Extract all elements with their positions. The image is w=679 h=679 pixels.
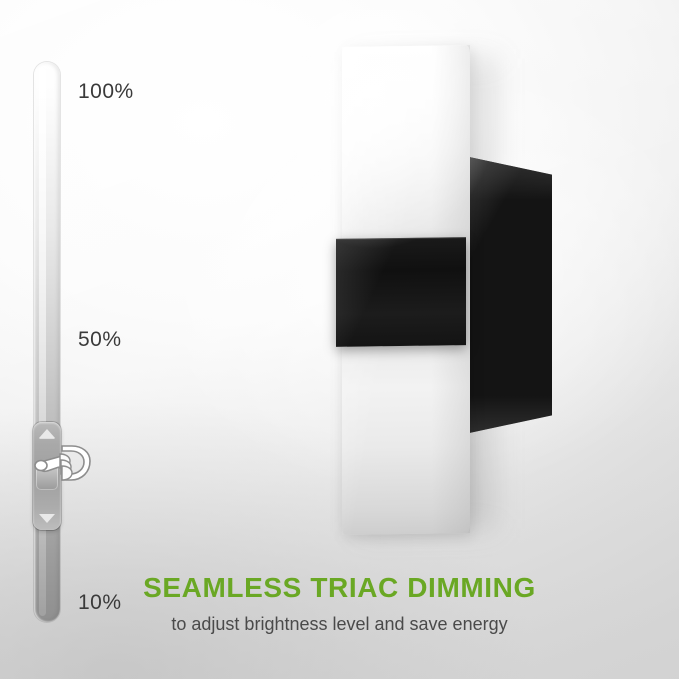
caption-block: SEAMLESS TRIAC DIMMING to adjust brightn…: [0, 572, 679, 635]
caption-headline: SEAMLESS TRIAC DIMMING: [0, 572, 679, 604]
triangle-up-icon[interactable]: [39, 429, 55, 438]
black-mounting-plate: [460, 155, 552, 435]
wall-sconce-lamp: [330, 40, 580, 540]
caption-subline: to adjust brightness level and save ener…: [0, 614, 679, 635]
product-photo-scene: 100% 50% 10% SEAMLESS TRIAC DIMMING to a…: [0, 0, 679, 679]
black-center-band: [336, 237, 466, 347]
slider-track[interactable]: [34, 62, 60, 622]
pointing-hand-icon: [32, 438, 96, 496]
mounting-plate-bevel: [460, 155, 552, 435]
slider-tick-label-50: 50%: [78, 328, 122, 352]
band-sheen: [336, 237, 466, 347]
slider-tick-label-100: 100%: [78, 80, 134, 104]
slider-track-gloss: [39, 68, 46, 616]
triangle-down-icon[interactable]: [39, 514, 55, 523]
brightness-dimmer-slider[interactable]: 100% 50% 10%: [34, 62, 60, 622]
